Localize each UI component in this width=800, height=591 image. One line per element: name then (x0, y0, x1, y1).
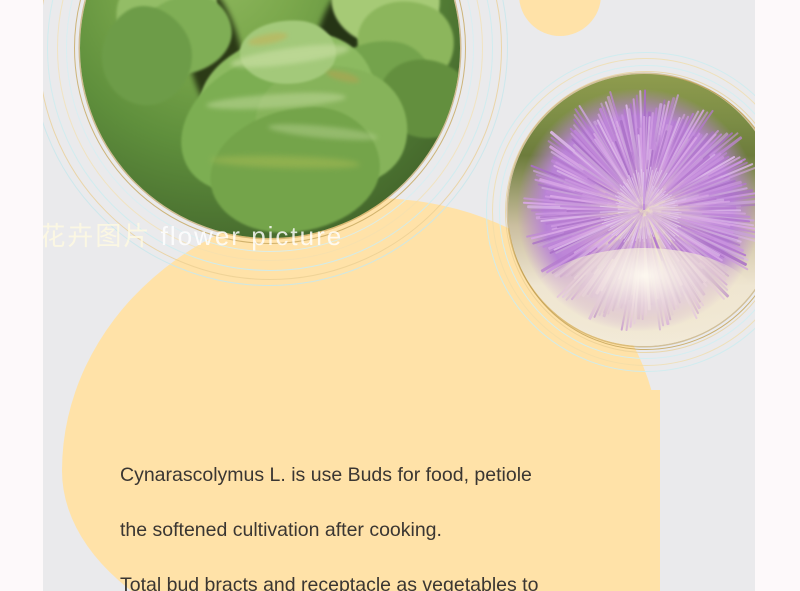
infographic-slide: ory 花卉图片 flower picture Cynarascolymus L… (0, 0, 800, 591)
artichoke-image-content (80, 0, 460, 238)
description-line-1: Cynarascolymus L. is use Buds for food, … (120, 448, 680, 503)
page-margin-right (755, 0, 800, 591)
page-margin-left (0, 0, 43, 591)
description-text-block: Cynarascolymus L. is use Buds for food, … (120, 448, 680, 591)
description-line-2: the softened cultivation after cooking. (120, 503, 680, 558)
thistle-image-content (508, 74, 780, 346)
description-line-3: Total bud bracts and receptacle as veget… (120, 558, 680, 591)
artichoke-photo (80, 0, 460, 238)
thistle-photo (508, 74, 780, 346)
